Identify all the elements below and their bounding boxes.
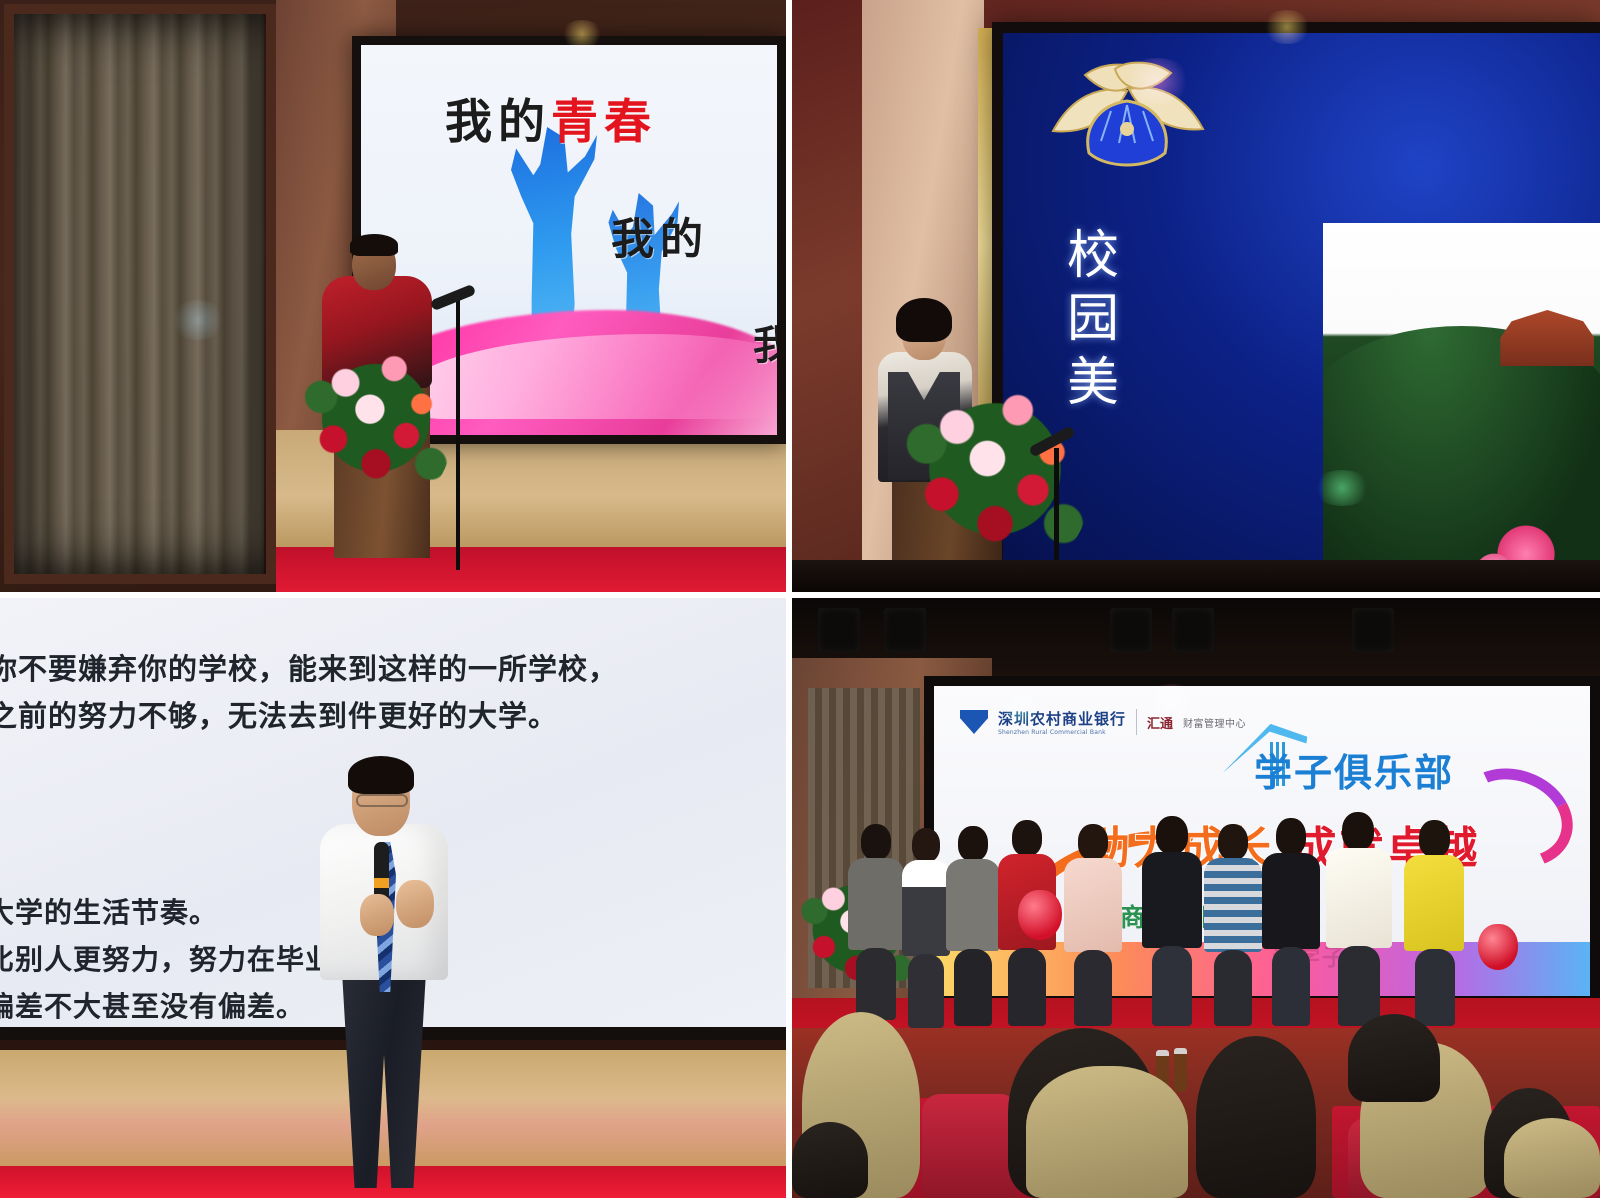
person-head (1342, 812, 1374, 850)
floor-shadow-band (792, 560, 1600, 592)
stage-person-10 (1404, 820, 1464, 1026)
person-legs (1074, 950, 1112, 1026)
microphone-stand (456, 300, 460, 570)
audience-member-2 (792, 1122, 868, 1198)
stage-person-2 (900, 828, 952, 1028)
glasses-icon (356, 794, 408, 807)
person-head (1156, 816, 1188, 854)
audience-member-9 (1504, 1118, 1600, 1198)
presenter-hair (348, 756, 414, 794)
stage-person-7 (1204, 824, 1262, 1026)
person-head (1078, 824, 1108, 860)
person-legs (908, 954, 944, 1028)
curtain-frame (4, 4, 276, 584)
stage-person-1 (848, 824, 904, 1020)
flower-bouquet (900, 364, 1090, 574)
stage-light-5 (1352, 608, 1394, 652)
person-body (1404, 855, 1464, 951)
red-balloon-2 (1478, 924, 1518, 970)
stage-light-2 (884, 608, 926, 652)
slide-line-1: 你不要嫌弃你的学校，能来到这样的一所学校， (0, 646, 618, 688)
bank-logo-icon (960, 710, 988, 734)
person-legs (1214, 950, 1252, 1026)
person-head (1012, 820, 1042, 856)
flower-bouquet (300, 330, 452, 506)
slide-line-3: 大学的生活节奏。 (0, 891, 218, 931)
person-legs (856, 948, 896, 1020)
water-bottle-2 (1174, 1048, 1187, 1092)
person-body (1326, 848, 1392, 948)
panel-award-ceremony: 深圳农村商业银行 Shenzhen Rural Commercial Bank … (792, 598, 1600, 1198)
stage-person-5 (1064, 824, 1122, 1026)
person-body (1064, 858, 1122, 952)
club-title: 学子俱乐部 (1254, 742, 1454, 797)
stage-light-3 (1110, 608, 1152, 652)
person-head (958, 826, 988, 861)
slide-headline-line2: 我的 (611, 205, 709, 267)
person-body (1142, 852, 1202, 948)
bank-name-cn: 深圳农村商业银行 (998, 708, 1126, 729)
person-head (1218, 824, 1248, 860)
slide-vertical-title: 校园美 (1061, 225, 1125, 415)
person-body (1262, 853, 1320, 949)
person-legs (1008, 948, 1046, 1026)
person-head (861, 824, 891, 860)
slide-line-5: 偏差不大甚至没有偏差。 (0, 985, 305, 1025)
partner-mark: 汇通 (1147, 713, 1173, 732)
person-body (946, 859, 1000, 951)
stage-person-9-host (1326, 812, 1392, 1026)
chair-back-2 (922, 1094, 1018, 1198)
person-body (902, 860, 950, 956)
slide-headline-line3: 我 (753, 313, 786, 371)
red-balloon-1 (1018, 890, 1062, 940)
speaker-hair (896, 298, 952, 342)
presenter-right-hand (396, 880, 434, 928)
stage-person-6 (1142, 816, 1202, 1026)
partner-text: 财富管理中心 (1183, 715, 1246, 730)
photo-collage: 我的青春 我的 我 (0, 0, 1600, 1198)
stage-light-4 (1172, 608, 1214, 652)
presenter-left-hand (360, 894, 394, 936)
person-head (912, 828, 940, 862)
slide-line-2: 之前的努力不够，无法去到件更好的大学。 (0, 693, 558, 735)
panel-presentation-slide: 你不要嫌弃你的学校，能来到这样的一所学校， 之前的努力不够，无法去到件更好的大学… (0, 598, 786, 1198)
person-legs (954, 949, 992, 1026)
lotus-flower-icon (1043, 57, 1213, 177)
person-legs (1272, 947, 1310, 1026)
person-head (1276, 818, 1306, 855)
temple-roof (1500, 304, 1594, 366)
audience-member-5 (1196, 1036, 1316, 1198)
speaker-hair (350, 234, 398, 256)
person-body (848, 858, 904, 950)
sponsor-logo-row: 深圳农村商业银行 Shenzhen Rural Commercial Bank … (960, 708, 1246, 736)
slide-headline-line1: 我的青春 (445, 83, 657, 152)
panel-campus-beauty: 校园美 (792, 0, 1600, 592)
audience-member-7 (1348, 1014, 1440, 1102)
campus-video-inset (1323, 223, 1600, 570)
panel-student-speech: 我的青春 我的 我 (0, 0, 786, 592)
audience-member-4 (1026, 1066, 1188, 1198)
bank-name-block: 深圳农村商业银行 Shenzhen Rural Commercial Bank (998, 708, 1126, 736)
stage-person-8 (1262, 818, 1320, 1026)
logo-divider (1136, 709, 1137, 735)
person-head (1419, 820, 1450, 857)
person-legs (1415, 949, 1455, 1026)
person-legs (1338, 946, 1380, 1026)
person-legs (1152, 946, 1192, 1026)
person-body (1204, 858, 1262, 952)
stage-light-1 (818, 608, 860, 652)
bank-name-en: Shenzhen Rural Commercial Bank (998, 729, 1126, 736)
stage-person-3 (946, 826, 1000, 1026)
